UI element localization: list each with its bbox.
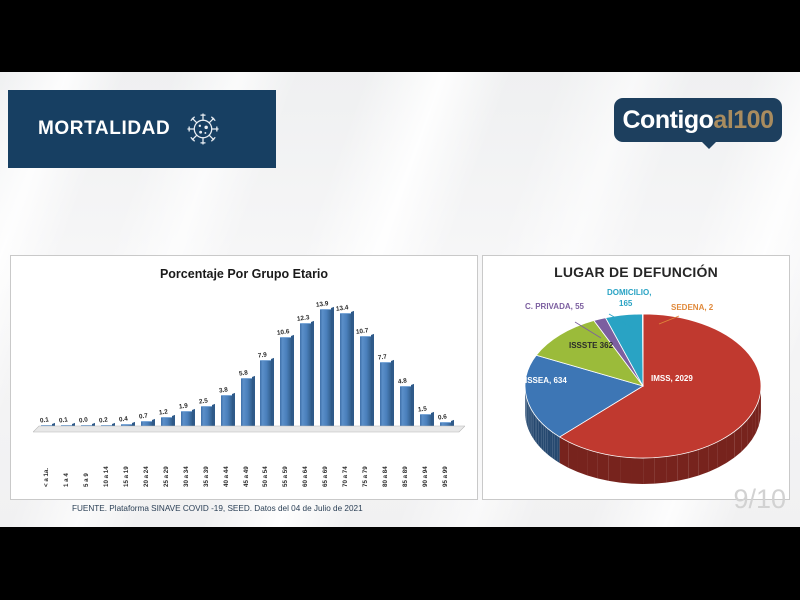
bar-x-label-slot: 35 a 39 [196,439,216,487]
logo-text-al100: al100 [713,106,773,135]
pie-slice-side [632,458,644,484]
bar-item: 0.7 [137,292,157,427]
bar-x-label: 20 a 24 [143,439,150,487]
bar-x-label: 35 a 39 [203,439,210,487]
bar-rect [241,378,252,427]
pie-slice-side [699,446,709,476]
bar-item: 13.9 [316,292,336,427]
virus-icon [184,110,222,148]
pie-slice-side [538,419,540,447]
bar-x-label-slot: 5 a 9 [77,439,97,487]
bar-value-label: 7.9 [258,351,268,359]
bar-item: 1.2 [156,292,176,427]
bar-item: 13.4 [336,292,356,427]
bar-item: 0.1 [37,292,57,427]
bar-value-label: 0.4 [119,415,129,423]
header-banner: MORTALIDAD [8,90,276,168]
bar-x-label-slot: 45 a 49 [236,439,256,487]
bar-x-label: 30 a 34 [183,439,190,487]
bar-x-label-slot: 95 a 99 [435,439,455,487]
bar-item: 5.8 [236,292,256,427]
bar-item: 0.6 [435,292,455,427]
pie-slice-side [655,457,666,484]
bar-value-label: 12.3 [296,314,309,323]
bar-value-label: 0.0 [79,416,89,424]
source-note: FUENTE. Plataforma SINAVE COVID -19, SEE… [72,504,363,513]
bar-x-label-slot: 65 a 69 [316,439,336,487]
pie-slice-side [709,442,718,472]
bar-x-label: 5 a 9 [83,439,90,487]
pie-slice-side [620,457,631,484]
bar-value-label: 0.7 [139,412,149,420]
bar-x-label-slot: 10 a 14 [97,439,117,487]
bar-x-label: < a 1a. [43,439,50,487]
bar-x-label: 60 a 64 [302,439,309,487]
bar-value-label: 7.7 [377,353,387,361]
bar-value-label: 0.6 [437,413,447,421]
pie-slice-side [552,432,554,460]
bar-x-label: 70 a 74 [342,439,349,487]
bar-chart-plot: 0.10.10.00.20.40.71.21.92.53.85.87.910.6… [33,292,465,433]
bar-x-label: 90 a 94 [422,439,429,487]
bar-x-label-slot: 85 a 89 [395,439,415,487]
bar-x-label-slot: 30 a 34 [176,439,196,487]
bar-item: 10.7 [356,292,376,427]
pie-slice-side [537,417,539,445]
bar-x-label: 85 a 89 [402,439,409,487]
pie-label-domicilio-value: 165 [619,299,632,308]
pie-slice-side [526,396,527,424]
bar-item: 1.5 [415,292,435,427]
pie-chart-svg [483,286,791,486]
bar-value-label: 13.9 [316,300,329,309]
bar-rect [221,395,232,427]
pie-chart-title: LUGAR DE DEFUNCIÓN [483,264,789,280]
pie-slice-side [528,403,529,431]
bar-x-label-slot: 70 a 74 [336,439,356,487]
bar-value-label: 1.9 [178,402,188,410]
bar-x-label: 1 a 4 [63,439,70,487]
bar-rect [201,406,212,427]
bar-chart-x-axis-labels: < a 1a.1 a 45 a 910 a 1415 a 1920 a 2425… [37,439,455,487]
bar-x-label: 50 a 54 [262,439,269,487]
page-title: MORTALIDAD [38,118,170,140]
pie-label-issea: ISSEA, 634 [525,376,567,385]
bar-rect [280,337,291,427]
bar-chart-panel: Porcentaje Por Grupo Etario 0.10.10.00.2… [10,255,478,500]
pie-label-imss: IMSS, 2029 [651,374,693,383]
pie-slice-side [550,430,552,458]
pie-label-domicilio: DOMICILIO, [607,288,651,297]
pie-slice-side [529,405,530,433]
bar-x-label: 75 a 79 [362,439,369,487]
bar-chart-title: Porcentaje Por Grupo Etario [11,267,477,281]
pie-slice-side [677,453,688,481]
bar-item: 0.0 [77,292,97,427]
bar-rect [340,313,351,427]
bar-item: 4.8 [395,292,415,427]
bar-value-label: 4.8 [397,378,407,386]
pie-slice-side [527,401,528,429]
pie-slice-side [531,409,532,437]
bar-x-label: 65 a 69 [322,439,329,487]
bar-item: 12.3 [296,292,316,427]
page-number: 9/10 [733,484,786,515]
pie-slice-side [587,450,597,479]
bar-value-label: 10.6 [276,328,289,337]
pie-slice-side [568,442,577,472]
letterbox-top [0,0,800,72]
bar-value-label: 0.1 [39,416,49,424]
bar-x-label-slot: < a 1a. [37,439,57,487]
pie-slice-side [527,398,528,426]
bar-x-label: 10 a 14 [103,439,110,487]
bar-rect [300,323,311,427]
bar-x-label: 80 a 84 [382,439,389,487]
pie-label-sedena: SEDENA, 2 [671,303,713,312]
pie-slice-side [598,453,609,481]
bar-x-label: 55 a 59 [282,439,289,487]
bar-x-label: 40 a 44 [223,439,230,487]
pie-slice-side [609,455,620,483]
logo: Contigoal100 [614,98,782,152]
pie-label-c-privada: C. PRIVADA, 55 [525,302,584,311]
pie-slice-side [535,415,537,443]
screenshot-stage: MORTALIDAD [0,0,800,600]
pie-slice-side [643,458,655,484]
bar-series: 0.10.10.00.20.40.71.21.92.53.85.87.910.6… [37,292,455,427]
bar-value-label: 3.8 [218,386,228,394]
pie-slice-side [557,435,560,463]
bar-x-label: 15 a 19 [123,439,130,487]
bar-x-label: 95 a 99 [442,439,449,487]
pie-chart-area: IMSS, 2029 ISSEA, 634 ISSSTE 362 C. PRIV… [483,286,791,486]
bar-x-label-slot: 25 a 29 [156,439,176,487]
bar-x-label-slot: 1 a 4 [57,439,77,487]
pie-slice-side [532,411,533,439]
bar-x-label-slot: 75 a 79 [356,439,376,487]
bar-x-label-slot: 80 a 84 [375,439,395,487]
pie-slice-side [718,437,727,468]
pie-slice-side [546,427,548,455]
pie-slice-side [548,429,550,457]
bar-value-label: 1.2 [158,408,168,416]
bar-item: 7.9 [256,292,276,427]
logo-text-contigo: Contigo [623,106,714,135]
pie-slice-side [578,446,588,476]
bar-value-label: 10.7 [356,327,369,336]
pie-label-issste: ISSSTE 362 [569,341,613,350]
letterbox-bottom [0,527,800,600]
bar-x-label-slot: 20 a 24 [137,439,157,487]
bar-x-label-slot: 40 a 44 [216,439,236,487]
bar-x-label: 45 a 49 [243,439,250,487]
bar-x-label-slot: 90 a 94 [415,439,435,487]
bar-item: 0.2 [97,292,117,427]
bar-x-label-slot: 60 a 64 [296,439,316,487]
pie-slice-side [555,434,557,462]
bar-value-label: 0.1 [59,416,69,424]
pie-slice-side [534,413,535,441]
bar-item: 0.1 [57,292,77,427]
pie-slice-side [530,407,531,435]
bar-rect [320,309,331,427]
bar-x-label-slot: 15 a 19 [117,439,137,487]
bar-rect [380,362,391,427]
bar-value-label: 0.2 [99,416,109,424]
bar-value-label: 1.5 [417,406,427,414]
bar-rect [260,360,271,427]
pie-chart-panel: LUGAR DE DEFUNCIÓN IMSS, 2029 ISSEA, 634… [482,255,790,500]
bar-x-label-slot: 55 a 59 [276,439,296,487]
presentation-slide: MORTALIDAD [0,72,800,527]
bar-value-label: 5.8 [238,369,248,377]
pie-slice-side [666,455,677,483]
bar-item: 1.9 [176,292,196,427]
pie-slice-side [688,449,698,478]
bar-value-label: 13.4 [336,304,349,313]
logo-bubble: Contigoal100 [614,98,782,142]
bar-rect [360,336,371,427]
bar-item: 2.5 [196,292,216,427]
bar-x-label-slot: 50 a 54 [256,439,276,487]
pie-slice-side [560,437,569,468]
bar-x-label: 25 a 29 [163,439,170,487]
bar-item: 3.8 [216,292,236,427]
pie-slice-side [542,423,544,451]
bar-item: 7.7 [375,292,395,427]
bar-chart-axis [33,425,465,433]
bar-value-label: 2.5 [198,397,208,405]
pie-slice-side [540,421,542,449]
bar-item: 10.6 [276,292,296,427]
bar-item: 0.4 [117,292,137,427]
bar-rect [400,386,411,427]
pie-slice-side [544,425,546,453]
